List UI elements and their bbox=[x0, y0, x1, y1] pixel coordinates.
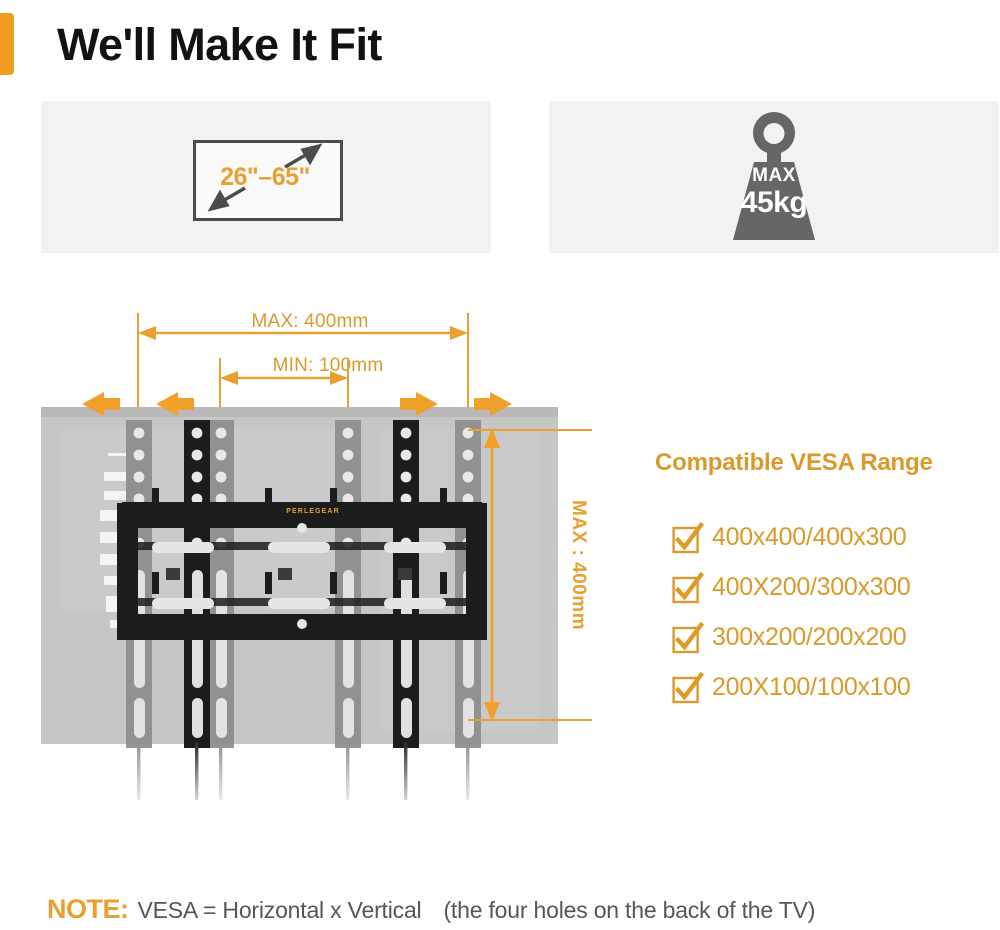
vesa-item-label: 200X100/100x100 bbox=[712, 673, 910, 702]
vesa-list: 400x400/400x300 400X200/300x300 300x200/… bbox=[672, 512, 992, 712]
weight-max-label: MAX bbox=[711, 165, 837, 187]
checkbox-checked-icon[interactable] bbox=[672, 524, 699, 551]
list-item[interactable]: 400X200/300x300 bbox=[672, 562, 992, 612]
checkbox-checked-icon[interactable] bbox=[672, 574, 699, 601]
vesa-item-label: 300x200/200x200 bbox=[712, 623, 906, 652]
screen-size-value: 26"–65" bbox=[200, 163, 330, 192]
note-label: NOTE: bbox=[47, 894, 129, 924]
accent-bar bbox=[0, 13, 14, 75]
weight-value: 45kg bbox=[711, 186, 837, 220]
tv-mount-illustration bbox=[0, 280, 640, 800]
vesa-item-label: 400x400/400x300 bbox=[712, 523, 906, 552]
brand-logo: PERLEGEAR bbox=[281, 508, 345, 515]
checkbox-checked-icon[interactable] bbox=[672, 624, 699, 651]
checkbox-checked-icon[interactable] bbox=[672, 674, 699, 701]
note-text: VESA = Horizontal x Vertical bbox=[138, 897, 422, 923]
vesa-item-label: 400X200/300x300 bbox=[712, 573, 910, 602]
note-parenthetical: (the four holes on the back of the TV) bbox=[443, 897, 815, 923]
list-item[interactable]: 300x200/200x200 bbox=[672, 612, 992, 662]
list-item[interactable]: 200X100/100x100 bbox=[672, 662, 992, 712]
page-title: We'll Make It Fit bbox=[57, 14, 382, 76]
vesa-section-title: Compatible VESA Range bbox=[655, 449, 933, 477]
list-item[interactable]: 400x400/400x300 bbox=[672, 512, 992, 562]
note-line: NOTE:VESA = Horizontal x Vertical(the fo… bbox=[47, 893, 987, 930]
